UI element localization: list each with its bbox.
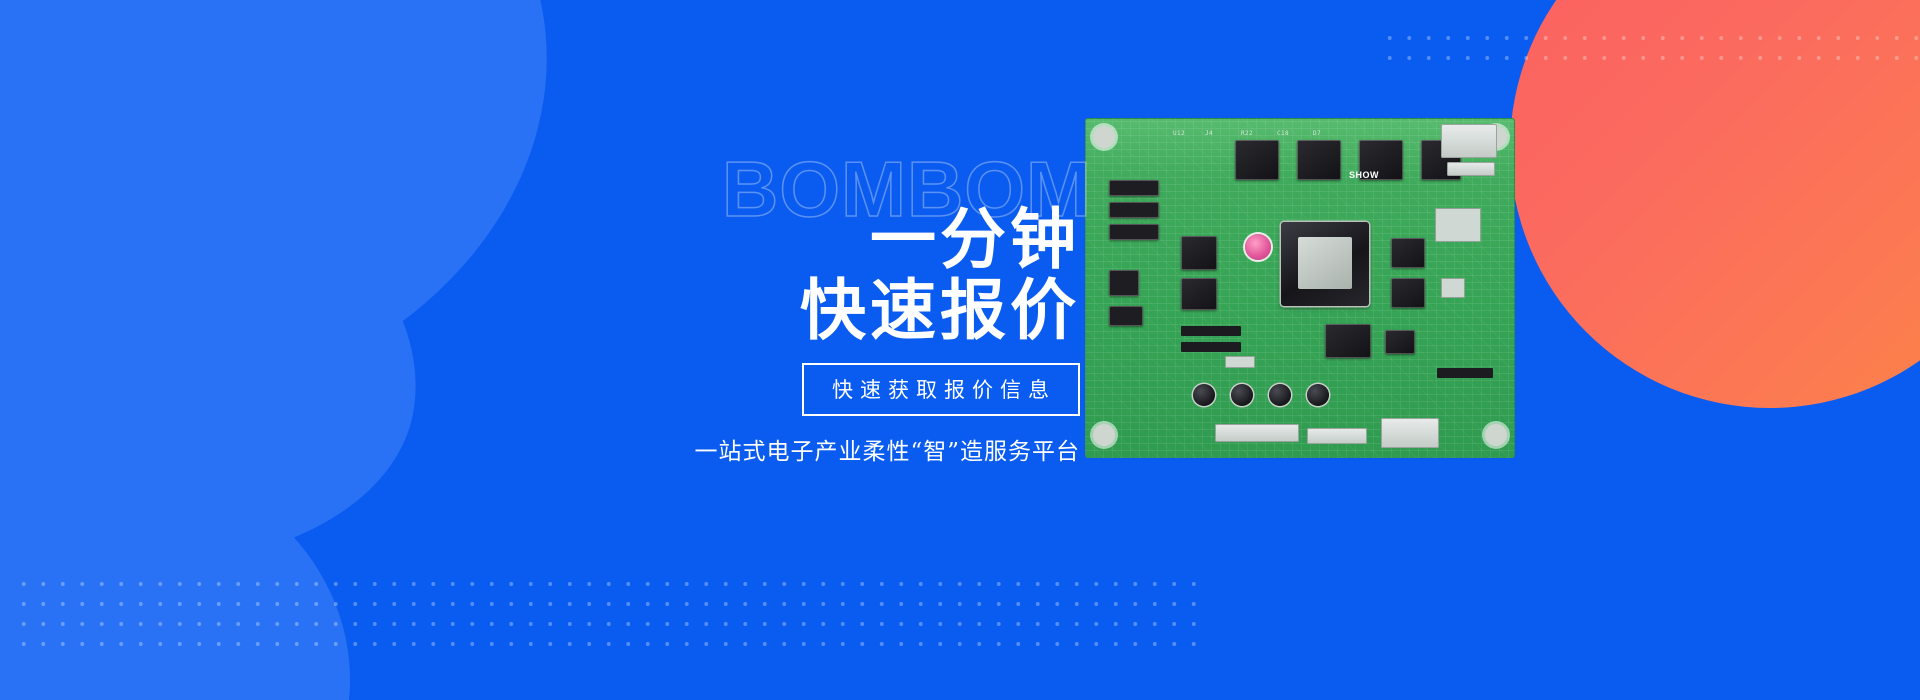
pcb-connector [1109, 306, 1143, 326]
pcb-mounting-hole [1093, 126, 1115, 148]
pcb-pin-header [1181, 342, 1241, 352]
pcb-board-image: SHOW U12 J4 R22 C18 D7 [1085, 118, 1515, 458]
pcb-component [1441, 278, 1465, 298]
hero-banner: SHOW U12 J4 R22 C18 D7 BOMBOM 一分钟 快速报价 快… [0, 0, 1920, 700]
pcb-mounting-hole [1093, 424, 1115, 446]
pcb-mounting-hole [1485, 424, 1507, 446]
pcb-chip [1181, 236, 1217, 270]
pcb-io-connector [1215, 424, 1299, 442]
headline-line-2: 快速报价 [640, 277, 1080, 344]
pcb-chip [1297, 140, 1341, 180]
pcb-substrate: SHOW U12 J4 R22 C18 D7 [1085, 118, 1515, 458]
pcb-silkscreen-logo: SHOW [1347, 170, 1381, 200]
pcb-connector [1109, 202, 1159, 218]
pcb-connector [1109, 224, 1159, 240]
pcb-card-slot [1447, 162, 1495, 176]
pcb-capacitor [1269, 384, 1291, 406]
pcb-io-connector [1381, 418, 1439, 448]
pcb-chip [1391, 278, 1425, 308]
pcb-component [1435, 208, 1481, 242]
dot-grid-bottom-left [14, 574, 1199, 656]
pcb-chip [1181, 278, 1217, 310]
pcb-card-slot [1441, 124, 1497, 158]
pcb-silk-label: C18 [1277, 130, 1289, 137]
pcb-pin-header [1181, 326, 1241, 336]
pcb-capacitor [1307, 384, 1329, 406]
hero-tagline: 一站式电子产业柔性“智”造服务平台 [640, 432, 1080, 466]
pcb-io-connector [1307, 428, 1367, 444]
pcb-connector [1109, 270, 1139, 296]
pcb-silk-label: D7 [1313, 130, 1321, 137]
pcb-pink-capacitor [1245, 234, 1271, 260]
pcb-pin-header [1437, 368, 1493, 378]
pcb-chip [1385, 330, 1415, 354]
pcb-chip [1235, 140, 1279, 180]
headline-line-1: 一分钟 [640, 206, 1080, 273]
pcb-silk-label: U12 [1173, 130, 1185, 137]
pcb-component [1225, 356, 1255, 368]
pcb-silk-label: R22 [1241, 130, 1253, 137]
dot-grid-top-right [1380, 28, 1920, 70]
pcb-capacitor [1193, 384, 1215, 406]
pcb-connector [1109, 180, 1159, 196]
hero-copy-block: BOMBOM 一分钟 快速报价 快速获取报价信息 一站式电子产业柔性“智”造服务… [640, 150, 1080, 466]
pcb-chip [1391, 238, 1425, 268]
pcb-capacitor [1231, 384, 1253, 406]
get-quote-button[interactable]: 快速获取报价信息 [802, 363, 1080, 416]
pcb-chip [1325, 324, 1371, 358]
pcb-cpu [1281, 222, 1369, 306]
pcb-silk-label: J4 [1205, 130, 1213, 137]
